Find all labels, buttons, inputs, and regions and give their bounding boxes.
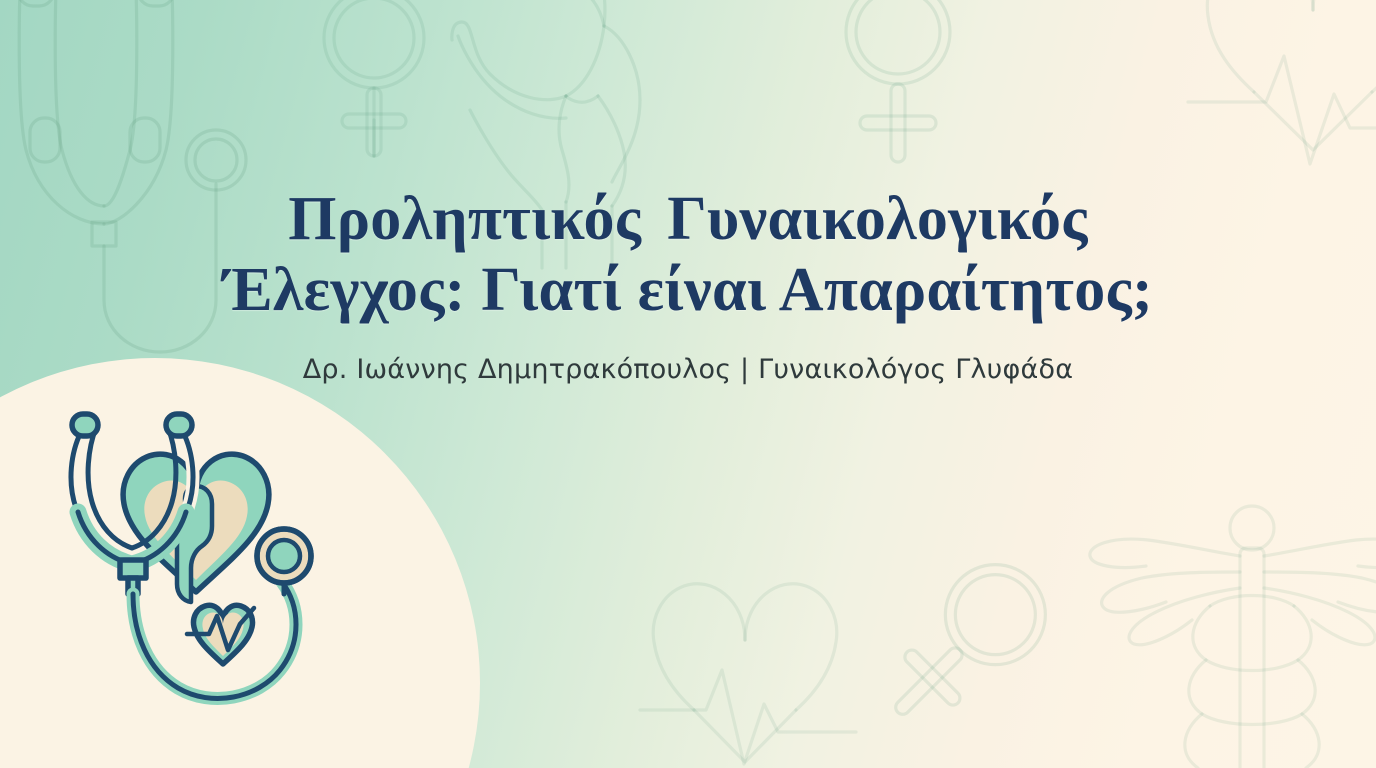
venus-symbol-watermark — [846, 0, 950, 162]
heart-ecg-watermark — [640, 584, 856, 764]
venus-symbol-watermark — [324, 0, 424, 156]
caduceus-watermark — [1090, 506, 1376, 768]
title-line2: Έλεγχος: Γιατί είναι Απαραίτητος; — [40, 257, 1336, 324]
slide-text-block: ΠροληπτικόςΓυναικολογικός Έλεγχος: Γιατί… — [0, 186, 1376, 385]
title-line1-word2: Γυναικολογικός — [667, 185, 1087, 253]
page-title: ΠροληπτικόςΓυναικολογικός Έλεγχος: Γιατί… — [0, 186, 1376, 324]
title-slide: ΠροληπτικόςΓυναικολογικός Έλεγχος: Γιατί… — [0, 0, 1376, 768]
subtitle-byline: Δρ. Ιωάννης Δημητρακόπουλος | Γυναικολόγ… — [0, 354, 1376, 385]
venus-symbol-watermark — [862, 544, 1066, 748]
small-heart-ecg-icon — [187, 605, 254, 664]
title-line1-word1: Προληπτικός — [288, 185, 641, 253]
heart-ecg-watermark — [1188, 0, 1376, 164]
stethoscope-heart-female-illustration — [44, 408, 384, 718]
